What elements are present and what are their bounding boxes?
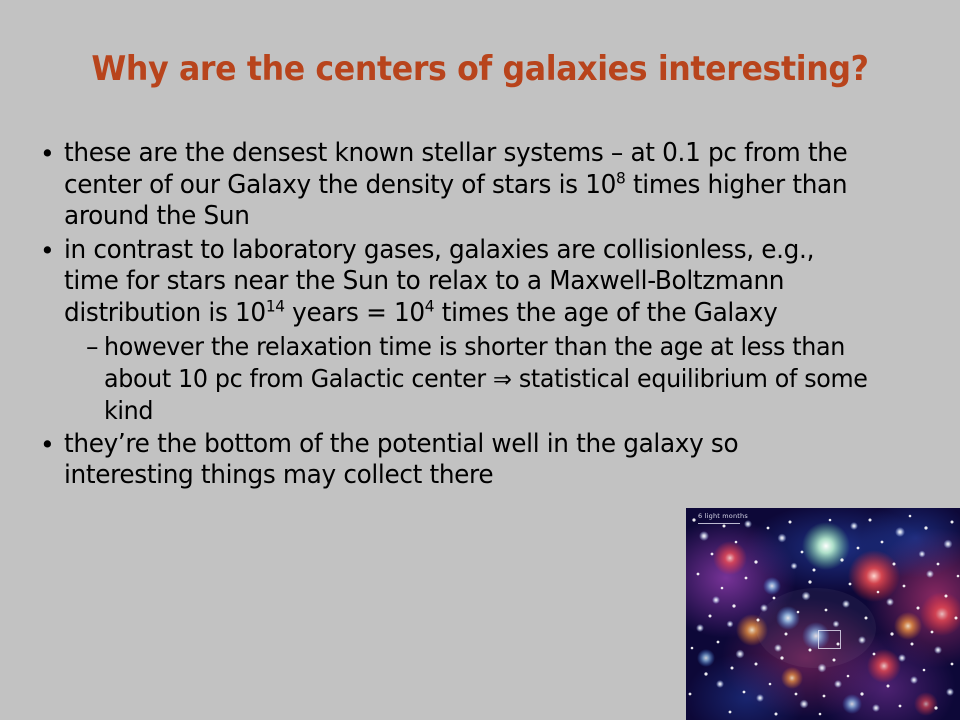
exponent: 14 — [266, 296, 285, 315]
bullet-item: •these are the densest known stellar sys… — [28, 138, 918, 233]
starfield-graphic — [686, 508, 960, 720]
bullet-text: in contrast to laboratory gases, galaxie… — [64, 235, 869, 330]
bullet-item: –however the relaxation time is shorter … — [28, 331, 918, 427]
slide-canvas: Why are the centers of galaxies interest… — [0, 0, 960, 720]
bullet-dot-icon: • — [28, 429, 64, 460]
bullet-text: these are the densest known stellar syst… — [64, 138, 869, 233]
bullet-text: however the relaxation time is shorter t… — [104, 331, 870, 427]
bullet-dot-icon: • — [28, 138, 64, 169]
bullet-dash-icon: – — [76, 331, 104, 362]
galactic-center-image: 6 light months — [686, 508, 960, 720]
exponent: 8 — [616, 168, 625, 187]
bullet-item: •in contrast to laboratory gases, galaxi… — [28, 235, 918, 330]
page-title: Why are the centers of galaxies interest… — [34, 48, 927, 90]
bullet-item: •they’re the bottom of the potential wel… — [28, 429, 918, 492]
implies-arrow-icon: ⇒ — [493, 366, 512, 393]
bullet-dot-icon: • — [28, 235, 64, 266]
exponent: 4 — [425, 296, 434, 315]
bullet-text: they’re the bottom of the potential well… — [64, 429, 869, 492]
bullet-list: •these are the densest known stellar sys… — [28, 138, 918, 494]
